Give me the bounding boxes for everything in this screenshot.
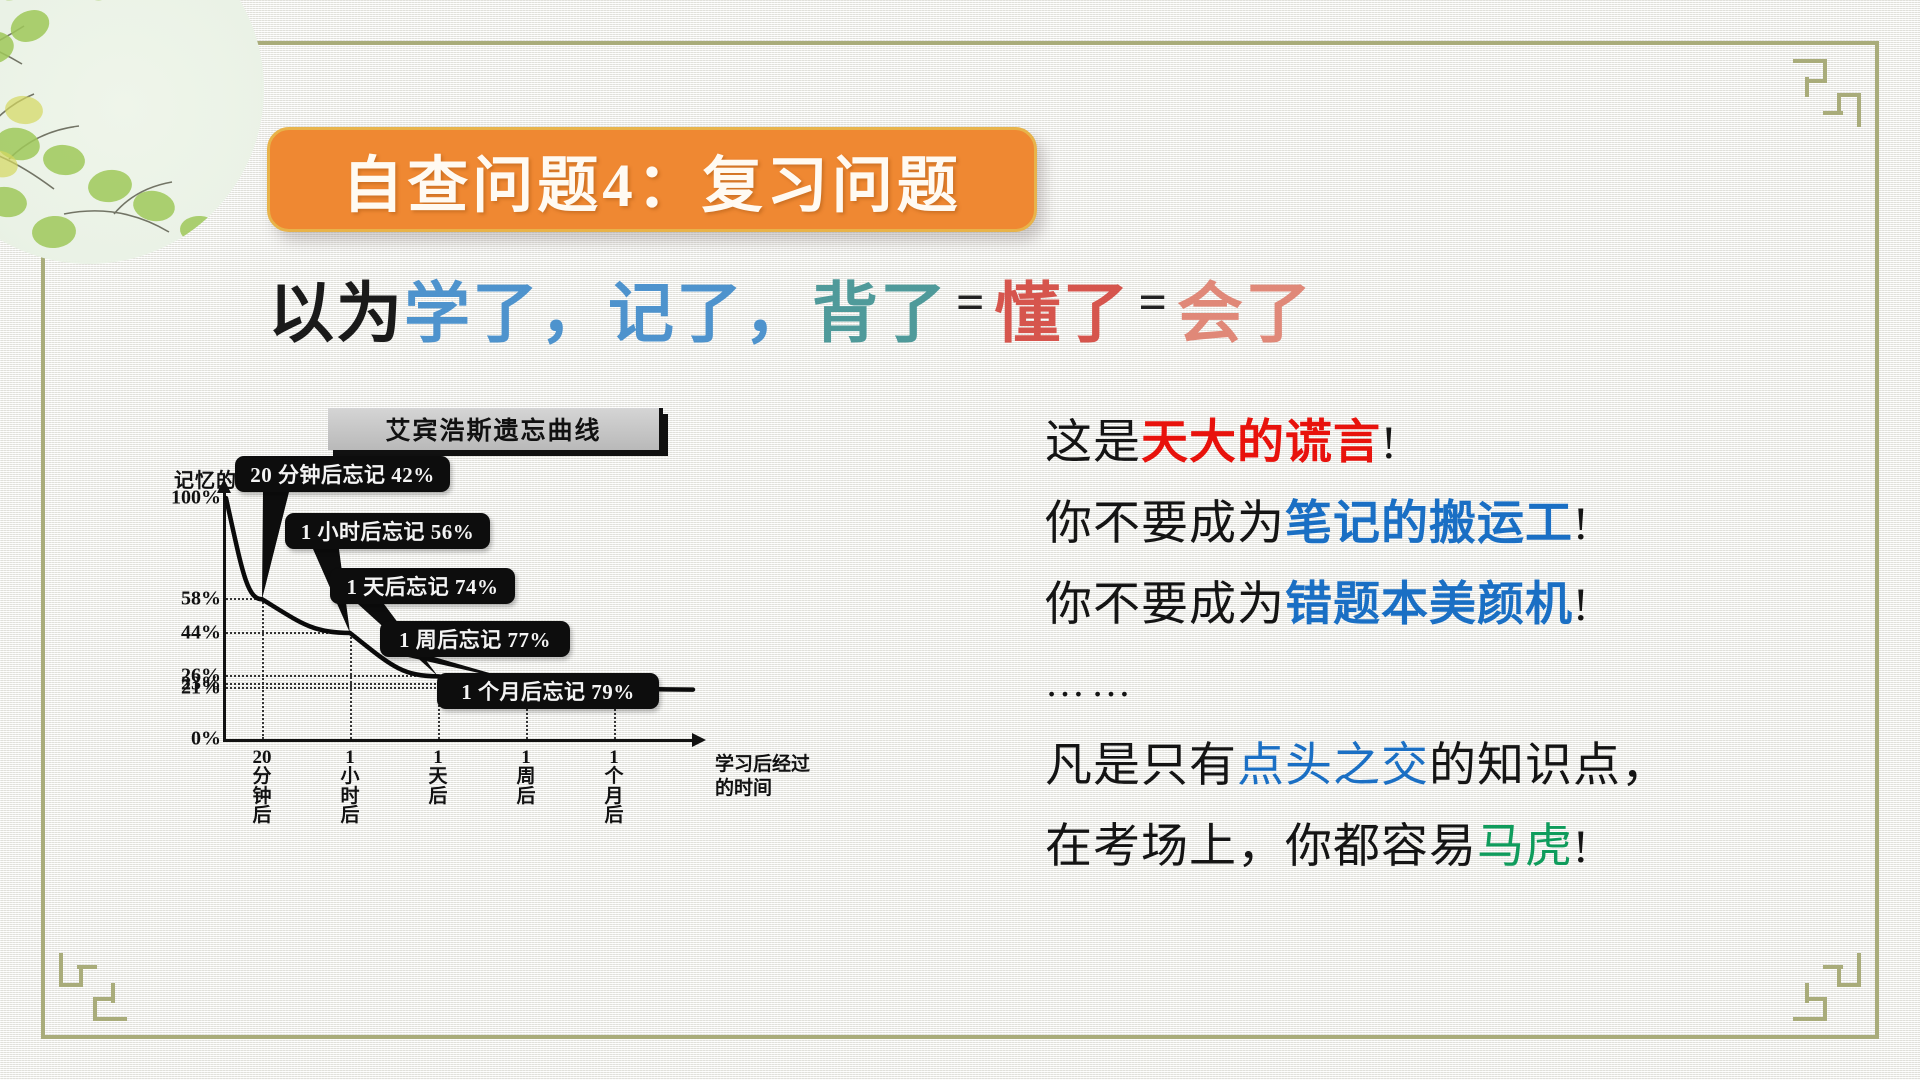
- chart-callout-3: 1 周后忘记 77%: [380, 621, 570, 657]
- chart-callout-label-2: 1 天后忘记 74%: [347, 571, 499, 601]
- subtitle-part-4: =: [948, 273, 995, 331]
- subtitle-part-5: 懂了: [995, 260, 1131, 356]
- chart-callout-4: 1 个月后忘记 79%: [437, 673, 659, 709]
- chart-gridline-h-44: [226, 632, 348, 634]
- subtitle-line: 以为学了，记了，背了=懂了=会了: [268, 268, 1528, 348]
- right-text-block: 这是天大的谎言!你不要成为笔记的搬运工!你不要成为错题本美颜机!……凡是只有点头…: [1045, 420, 1845, 905]
- chart-x-tick-0: 20分钟后: [251, 748, 273, 826]
- right-text-seg-5-0: 在考场上，你都容易: [1045, 821, 1477, 873]
- chart-x-tick-4: 1个月后: [603, 748, 625, 826]
- chart-gridline-h-26: [226, 675, 436, 677]
- chart-y-tick-labels: 100%58%44%26%23%21%0%: [167, 492, 221, 742]
- right-text-seg-1-0: 你不要成为: [1045, 498, 1285, 550]
- chart-callout-1: 1 小时后忘记 56%: [285, 513, 490, 549]
- right-text-seg-1-1: 笔记的搬运工: [1285, 498, 1573, 550]
- subtitle-part-6: =: [1131, 273, 1178, 331]
- chart-callout-label-1: 1 小时后忘记 56%: [301, 516, 475, 546]
- chart-y-tick-100: 100%: [171, 487, 221, 510]
- chart-x-axis-title: 学习后经过的时间: [715, 753, 819, 801]
- chart-y-axis: [223, 492, 226, 742]
- chart-callout-tail-0: [262, 492, 289, 599]
- subtitle-part-1: 学了，: [404, 260, 608, 356]
- chart-gridline-v-0: [262, 599, 264, 739]
- chart-gridline-h-58: [226, 598, 260, 600]
- chart-callout-label-0: 20 分钟后忘记 42%: [250, 459, 435, 489]
- right-text-seg-0-2: !: [1381, 417, 1398, 469]
- title-banner: 自查问题4：复习问题: [267, 127, 1037, 232]
- subtitle-part-0: 以为: [268, 260, 404, 356]
- right-text-seg-3-0: ……: [1045, 660, 1137, 705]
- right-text-seg-2-0: 你不要成为: [1045, 579, 1285, 631]
- chart-y-tick-58: 58%: [181, 588, 221, 611]
- chart-callout-2: 1 天后忘记 74%: [330, 568, 515, 604]
- frame-corner-top-right: [1805, 41, 1879, 115]
- right-text-seg-0-1: 天大的谎言: [1141, 417, 1381, 469]
- chart-y-tick-0: 0%: [191, 728, 221, 751]
- chart-x-axis: [223, 739, 693, 742]
- frame-corner-bottom-right: [1805, 965, 1879, 1039]
- right-text-seg-2-1: 错题本美颜机: [1285, 579, 1573, 631]
- right-text-seg-4-1: 点头之交: [1237, 740, 1429, 792]
- right-text-seg-5-2: !: [1573, 821, 1590, 873]
- right-text-seg-4-0: 凡是只有: [1045, 740, 1237, 792]
- right-text-seg-1-2: !: [1573, 498, 1590, 550]
- right-text-seg-2-2: !: [1573, 579, 1590, 631]
- right-text-line-4: 凡是只有点头之交的知识点，: [1045, 743, 1845, 790]
- right-text-line-1: 你不要成为笔记的搬运工!: [1045, 501, 1845, 548]
- chart-title-plaque: 艾宾浩斯遗忘曲线: [328, 408, 663, 450]
- chart-callout-0: 20 分钟后忘记 42%: [235, 456, 450, 492]
- chart-x-tick-2: 1天后: [427, 748, 449, 806]
- ebbinghaus-forgetting-curve-chart: 艾宾浩斯遗忘曲线 记忆的数量 100%58%44%26%23%21%0% 20分…: [175, 408, 855, 978]
- right-text-line-5: 在考场上，你都容易马虎!: [1045, 824, 1845, 871]
- page-title: 自查问题4：复习问题: [342, 135, 962, 224]
- chart-x-tick-3: 1周后: [515, 748, 537, 806]
- chart-y-tick-44: 44%: [181, 621, 221, 644]
- chart-gridline-v-1: [350, 633, 352, 739]
- chart-title: 艾宾浩斯遗忘曲线: [385, 411, 601, 447]
- right-text-line-0: 这是天大的谎言!: [1045, 420, 1845, 467]
- right-text-line-2: 你不要成为错题本美颜机!: [1045, 582, 1845, 629]
- right-text-seg-0-0: 这是: [1045, 417, 1141, 469]
- subtitle-part-2: 记了，: [608, 260, 812, 356]
- subtitle-part-3: 背了: [812, 260, 948, 356]
- right-text-seg-4-2: 的知识点，: [1429, 740, 1669, 792]
- frame-corner-bottom-left: [41, 965, 115, 1039]
- chart-callout-label-4: 1 个月后忘记 79%: [461, 676, 635, 706]
- right-text-line-3: ……: [1045, 663, 1845, 703]
- right-text-seg-5-1: 马虎: [1477, 821, 1573, 873]
- chart-callout-label-3: 1 周后忘记 77%: [399, 624, 551, 654]
- chart-x-tick-1: 1小时后: [339, 748, 361, 826]
- chart-y-tick-21: 21%: [181, 677, 221, 700]
- subtitle-part-7: 会了: [1177, 260, 1313, 356]
